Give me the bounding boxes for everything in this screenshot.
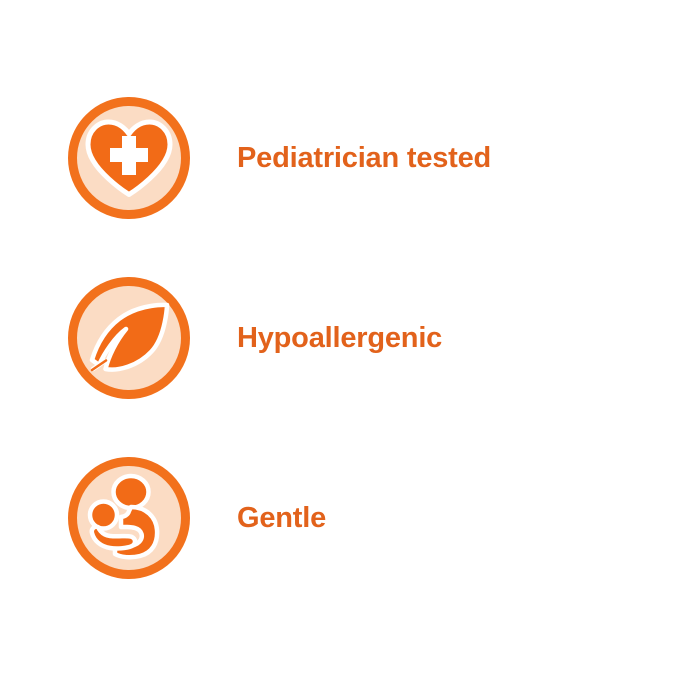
feature-item-pediatrician-tested: Pediatrician tested <box>68 97 628 219</box>
feature-item-hypoallergenic: Hypoallergenic <box>68 277 628 399</box>
badge-hypoallergenic <box>68 277 190 399</box>
feature-label-pediatrician-tested: Pediatrician tested <box>237 144 491 173</box>
feature-label-hypoallergenic: Hypoallergenic <box>237 324 442 353</box>
badge-gentle <box>68 457 190 579</box>
feature-list: Pediatrician tested Hypoallergenic <box>0 0 679 679</box>
feature-label-gentle: Gentle <box>237 504 326 533</box>
badge-pediatrician-tested <box>68 97 190 219</box>
feature-item-gentle: Gentle <box>68 457 628 579</box>
